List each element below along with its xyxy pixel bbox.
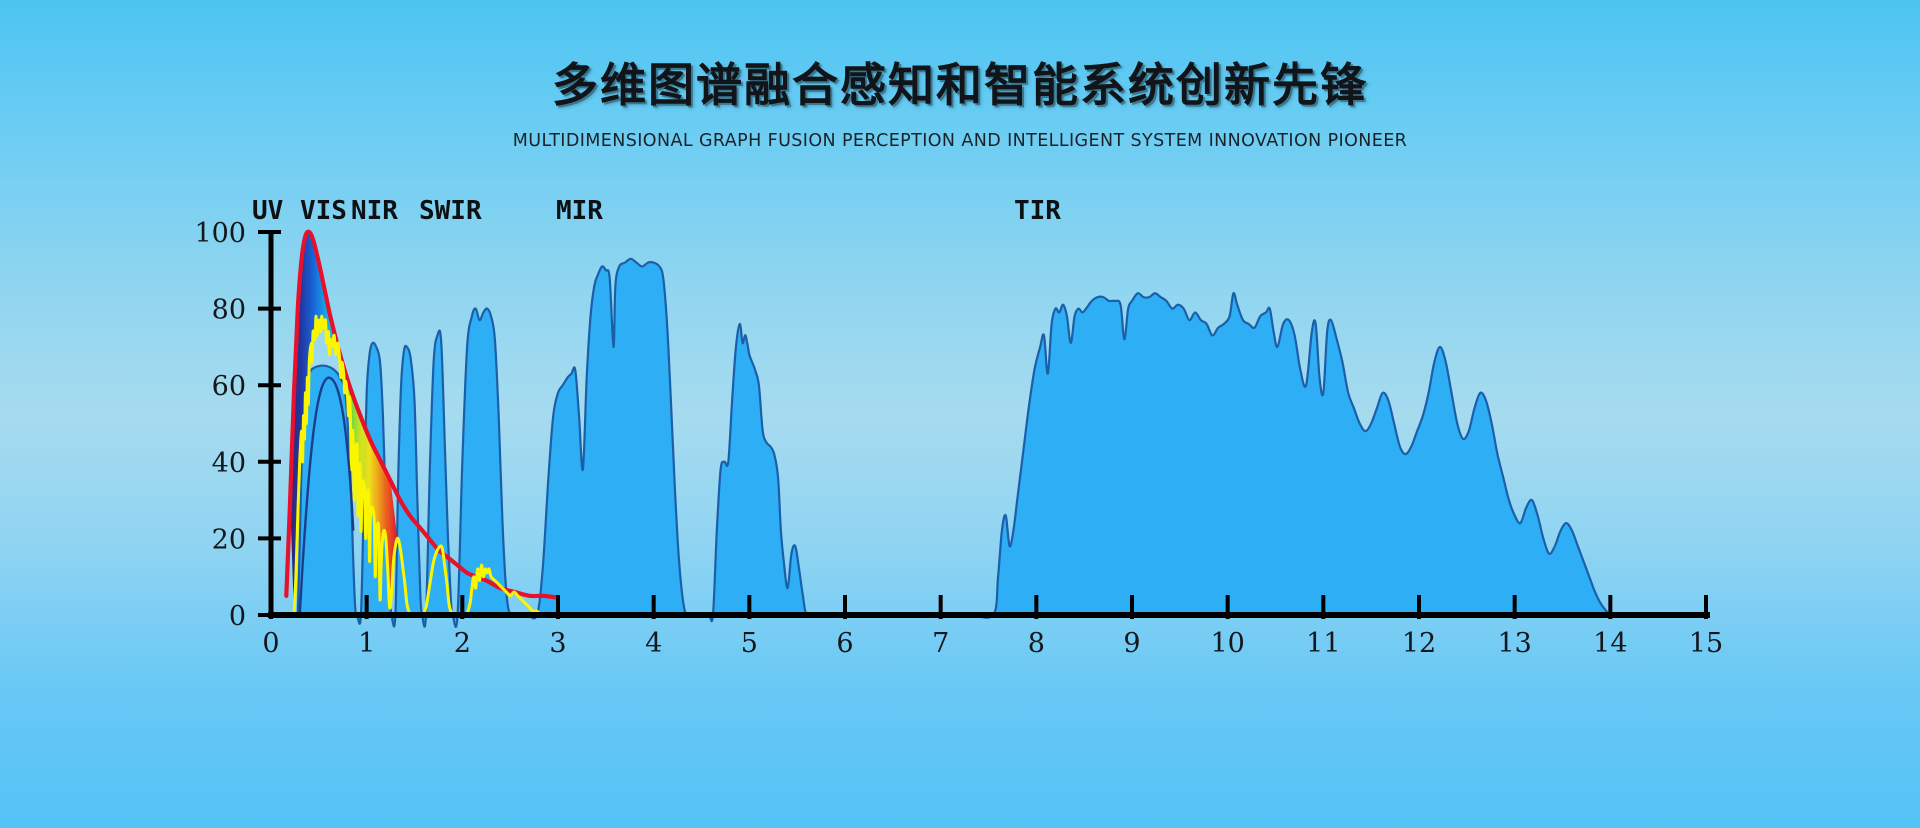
band-label-tir: TIR <box>1014 196 1061 226</box>
x-tick-label: 12 <box>1402 628 1436 659</box>
x-tick-label: 3 <box>549 628 566 659</box>
x-tick-label: 10 <box>1210 628 1244 659</box>
y-tick-label: 100 <box>194 218 246 249</box>
x-tick-label: 7 <box>932 628 949 659</box>
page-subtitle: MULTIDIMENSIONAL GRAPH FUSION PERCEPTION… <box>0 131 1920 151</box>
band-label-mir: MIR <box>556 196 603 226</box>
y-tick-label: 60 <box>212 371 246 402</box>
band-label-swir: SWIR <box>419 196 482 226</box>
x-tick-label: 2 <box>454 628 471 659</box>
chart-canvas: UV VIS NIR SWIR MIR TIR 020406080100 012… <box>0 195 1920 815</box>
x-tick-label: 9 <box>1123 628 1140 659</box>
band-label-uv: UV <box>252 196 283 226</box>
x-tick-label: 14 <box>1593 628 1627 659</box>
x-tick-label: 13 <box>1497 628 1531 659</box>
y-tick-label: 40 <box>212 448 246 479</box>
band-label-nir: NIR <box>351 196 398 226</box>
spectrum-chart: UV VIS NIR SWIR MIR TIR 020406080100 012… <box>0 195 1920 815</box>
plot-layer <box>286 232 1706 627</box>
y-axis-labels: 020406080100 <box>194 218 246 632</box>
x-tick-label: 6 <box>836 628 853 659</box>
x-tick-label: 11 <box>1306 628 1340 659</box>
x-axis-labels: 0123456789101112131415 <box>262 628 1723 659</box>
x-tick-label: 5 <box>741 628 758 659</box>
y-tick-label: 0 <box>229 601 246 632</box>
x-tick-label: 1 <box>358 628 375 659</box>
x-tick-label: 15 <box>1689 628 1723 659</box>
band-label-group: UV VIS NIR SWIR MIR TIR <box>252 196 1061 226</box>
y-tick-label: 80 <box>212 295 246 326</box>
series-transmission-area <box>298 259 1706 627</box>
x-tick-label: 8 <box>1028 628 1045 659</box>
page-title: 多维图谱融合感知和智能系统创新先锋 <box>0 60 1920 111</box>
x-tick-label: 4 <box>645 628 662 659</box>
page-header: 多维图谱融合感知和智能系统创新先锋 MULTIDIMENSIONAL GRAPH… <box>0 0 1920 151</box>
y-tick-label: 20 <box>212 524 246 555</box>
x-tick-label: 0 <box>262 628 279 659</box>
band-label-vis: VIS <box>300 196 347 226</box>
